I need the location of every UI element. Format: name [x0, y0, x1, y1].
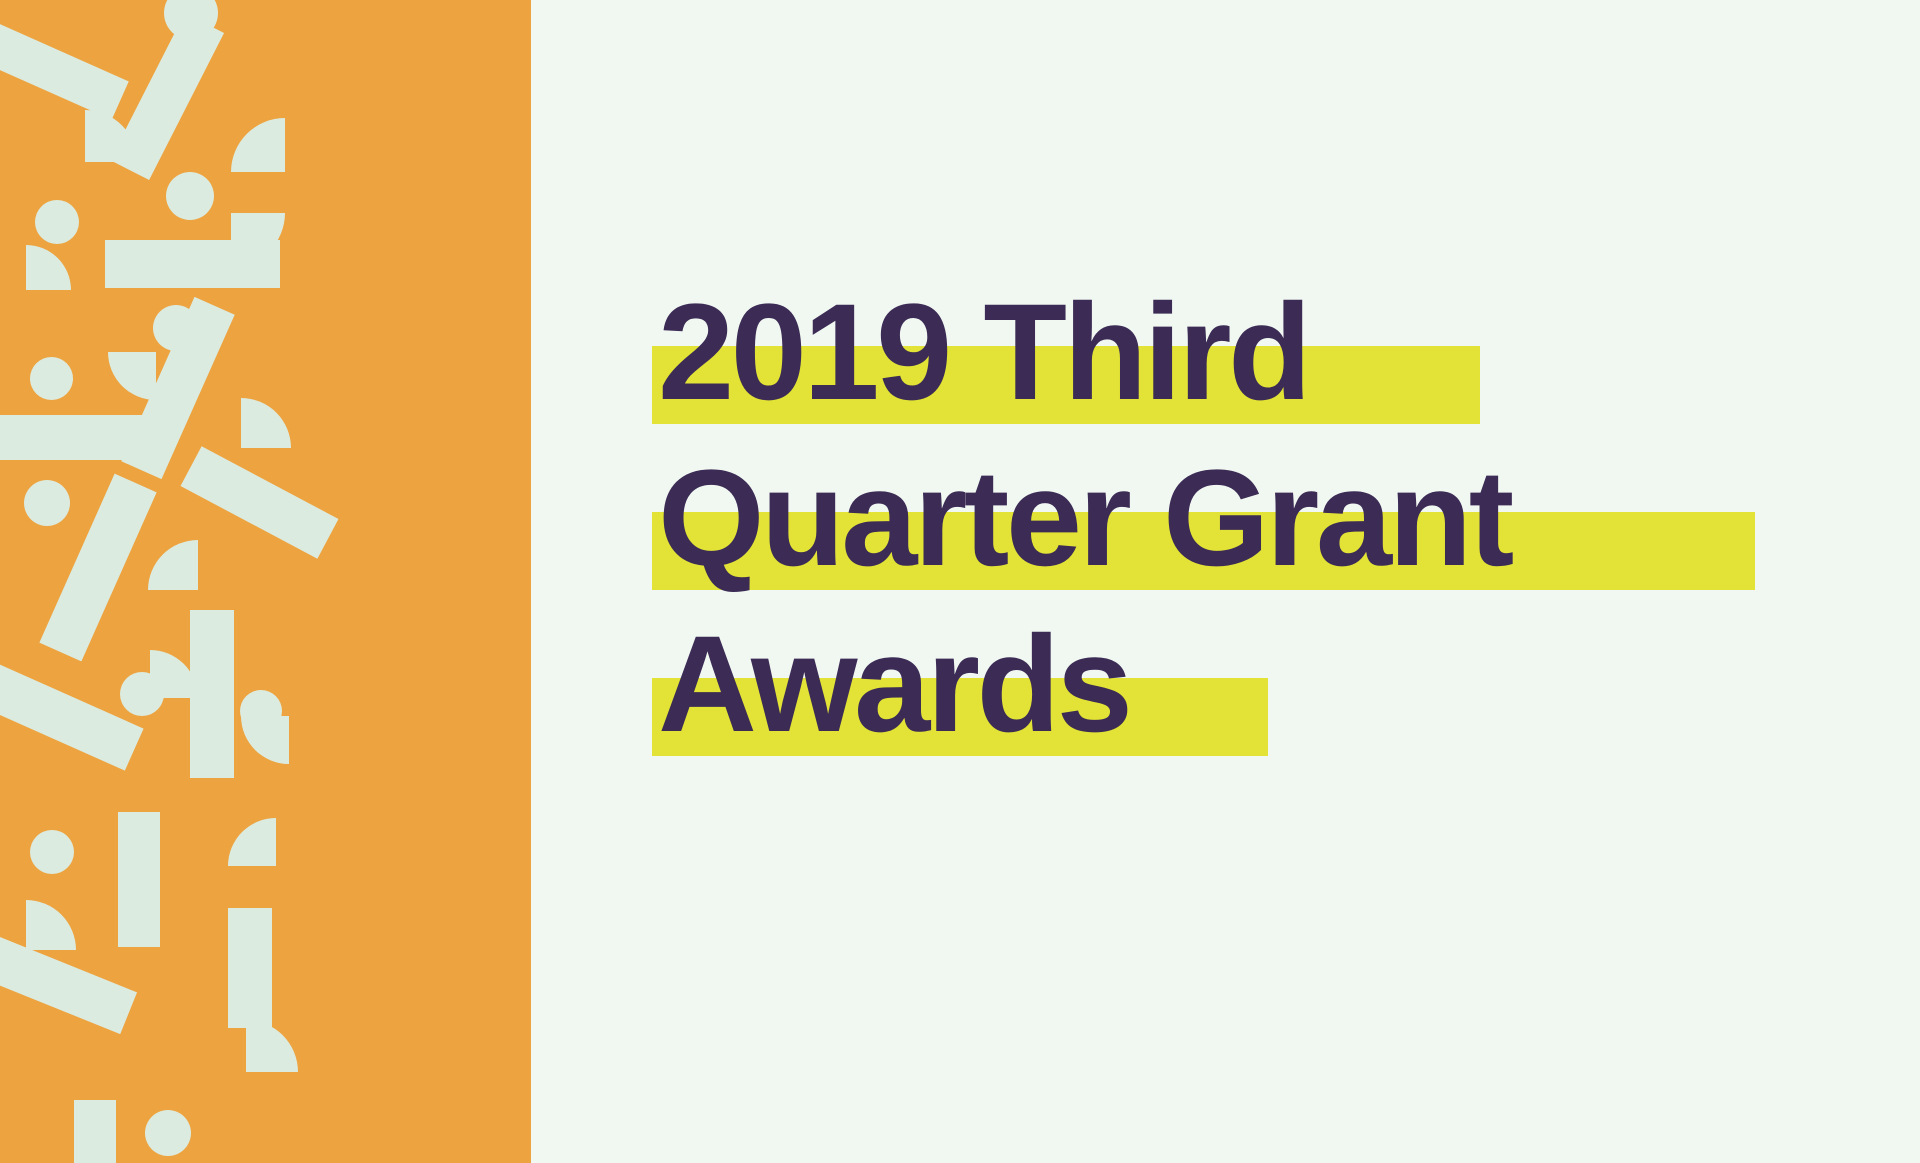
decor-shape-quarter-tr [26, 900, 76, 950]
decor-shape-bar [0, 415, 148, 460]
title-block: 2019 Third Quarter Grant Awards [652, 270, 1832, 768]
decor-shape-bar [118, 812, 160, 947]
decor-shape-quarter-tl [148, 540, 198, 590]
decor-shape-circle [145, 1110, 191, 1156]
decor-shape-bar [0, 8, 129, 120]
decor-shape-bar [0, 655, 144, 770]
page-title-line-2: Quarter Grant [652, 436, 1511, 602]
decor-shape-circle [30, 830, 74, 874]
decor-shape-bar [228, 908, 272, 1028]
decor-shape-quarter-bl [108, 352, 156, 400]
page-title-line-1: 2019 Third [652, 270, 1308, 436]
page-title-line-3: Awards [652, 602, 1129, 768]
decor-shape-quarter-tr [241, 398, 291, 448]
decor-shape-bar [181, 446, 339, 559]
decor-shape-quarter-tl [228, 818, 276, 866]
decor-shape-circle [30, 357, 73, 400]
title-line: Quarter Grant [652, 436, 1832, 602]
decor-shape-quarter-tr [85, 110, 137, 162]
decor-shape-quarter-tl [231, 118, 285, 172]
decor-shape-bar [74, 1100, 116, 1163]
slide-canvas: 2019 Third Quarter Grant Awards [0, 0, 1920, 1163]
decor-shape-quarter-tr [246, 1020, 298, 1072]
decor-shape-bar [105, 240, 280, 288]
decor-shape-circle [166, 172, 214, 220]
title-line: Awards [652, 602, 1832, 768]
decor-shape-circle [120, 672, 164, 716]
title-line: 2019 Third [652, 270, 1832, 436]
decor-shape-quarter-tr [26, 245, 71, 290]
decor-shape-circle [24, 480, 70, 526]
decor-shape-circle [153, 305, 199, 351]
decorative-pattern-panel [0, 0, 531, 1163]
decor-shape-quarter-bl [241, 716, 289, 764]
decor-shape-circle [35, 200, 79, 244]
